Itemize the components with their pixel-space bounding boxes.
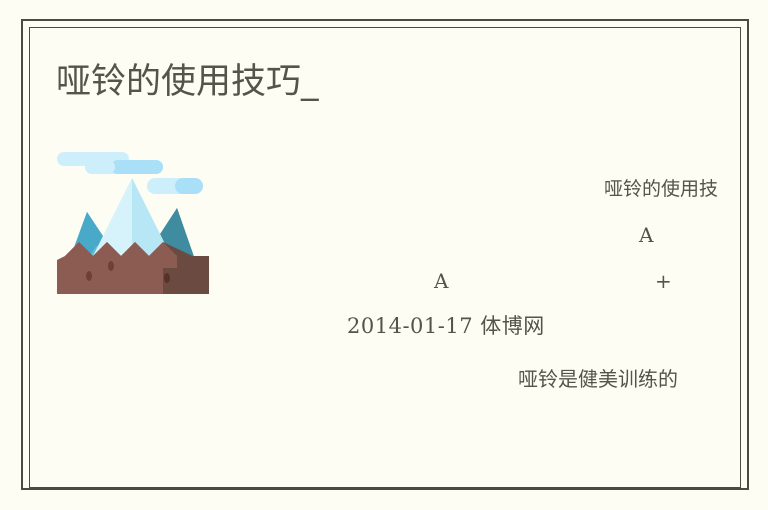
plus-marker: + bbox=[655, 268, 672, 294]
page-root: 哑铃的使用技巧_ bbox=[0, 0, 768, 510]
article-thumbnail bbox=[55, 148, 211, 300]
article-snippet-title: 哑铃的使用技 bbox=[604, 176, 718, 202]
font-size-marker-large: A bbox=[639, 222, 653, 248]
article-meta: 2014-01-17 体博网 bbox=[347, 312, 545, 340]
mountain-landscape-placeholder-icon bbox=[55, 148, 211, 300]
article-body-excerpt: 哑铃是健美训练的 bbox=[518, 365, 678, 393]
page-title: 哑铃的使用技巧_ bbox=[56, 60, 319, 104]
font-size-marker-small: A bbox=[434, 268, 448, 294]
